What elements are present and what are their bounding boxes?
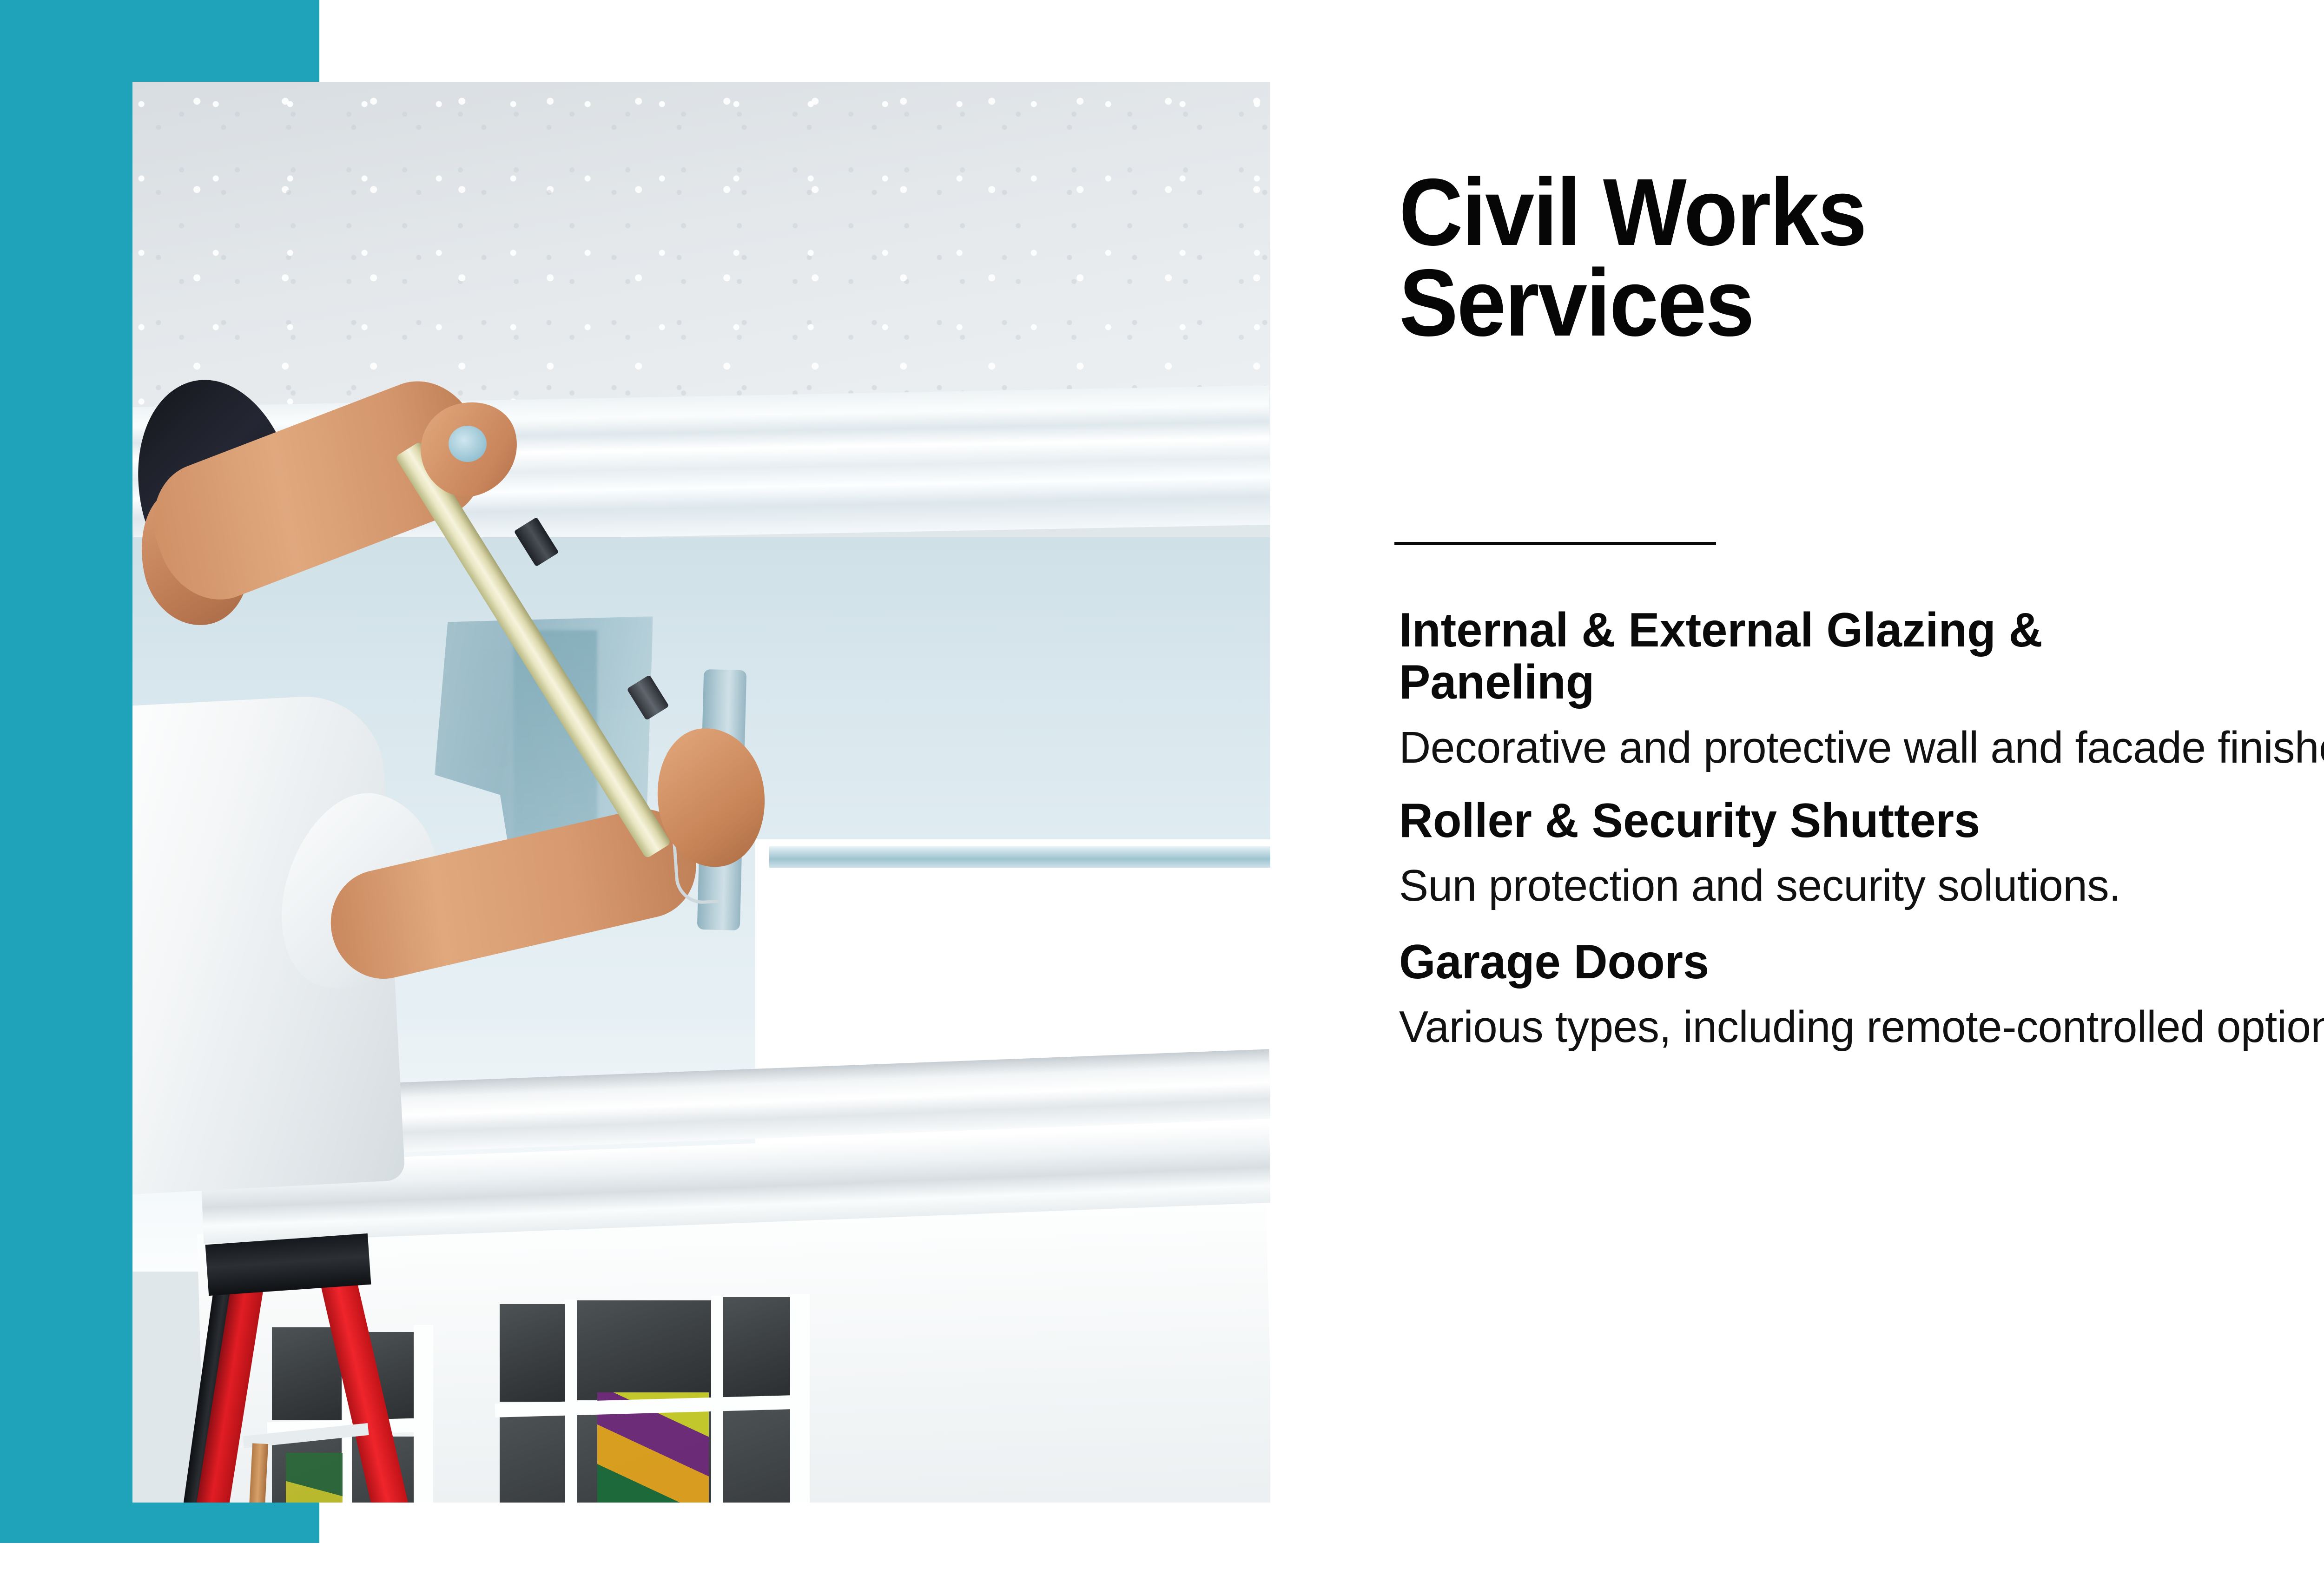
service-title: Internal & External Glazing & Paneling	[1399, 604, 2324, 709]
photo-cabinet-pane	[723, 1297, 790, 1397]
photo-window-header	[769, 846, 1270, 868]
photo-cabinet-pane	[576, 1300, 711, 1400]
service-description: Decorative and protective wall and facad…	[1399, 723, 2324, 773]
service-title: Garage Doors	[1399, 936, 2324, 988]
slide-canvas: Civil Works Services Internal & External…	[0, 0, 2324, 1569]
photo-cabinet-pane	[272, 1327, 342, 1420]
photo-cabinet-mullion	[414, 1325, 433, 1503]
service-item: Garage Doors Various types, including re…	[1399, 936, 2324, 1052]
photo-clothing-in-cabinet	[286, 1453, 351, 1503]
service-title-line: Internal & External Glazing &	[1399, 604, 2324, 656]
service-item: Roller & Security Shutters Sun protectio…	[1399, 795, 2324, 911]
hero-photo	[132, 82, 1270, 1503]
service-title-line: Paneling	[1399, 656, 2324, 708]
services-list: Internal & External Glazing & Paneling D…	[1399, 604, 2324, 1052]
title-divider	[1394, 542, 1716, 545]
photo-pole-tip	[449, 426, 487, 462]
service-title: Roller & Security Shutters	[1399, 795, 2324, 847]
photo-cabinet-mullion	[790, 1294, 810, 1503]
service-item: Internal & External Glazing & Paneling D…	[1399, 604, 2324, 772]
photo-cabinet-pane	[723, 1406, 790, 1503]
service-description: Sun protection and security solutions.	[1399, 861, 2324, 911]
text-column: Civil Works Services Internal & External…	[1399, 0, 2324, 1569]
page-title: Civil Works Services	[1399, 167, 2324, 349]
photo-ceiling	[132, 82, 1270, 435]
service-description: Various types, including remote-controll…	[1399, 1002, 2324, 1052]
photo-cabinet-pane	[500, 1304, 565, 1402]
photo-cabinet-pane	[500, 1413, 565, 1503]
